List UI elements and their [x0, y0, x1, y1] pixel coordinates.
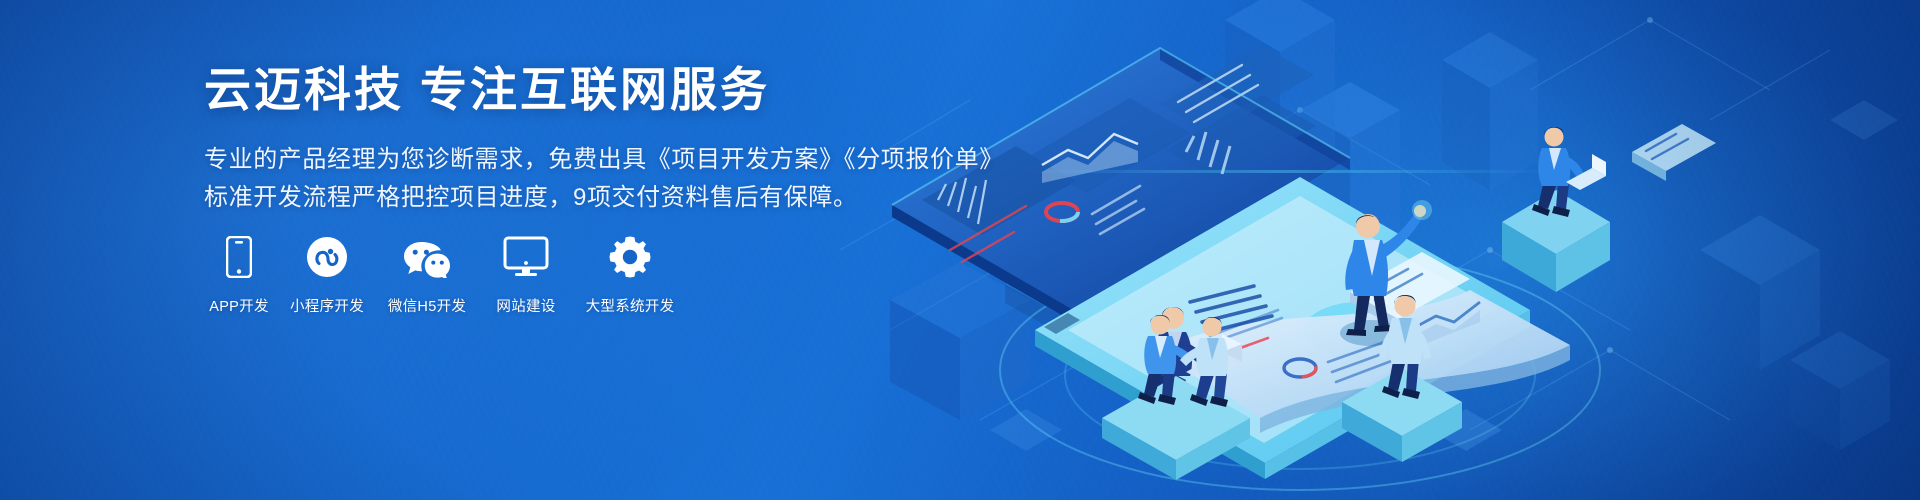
mini-program-icon	[306, 232, 348, 278]
service-label: APP开发	[209, 295, 269, 316]
service-item-wechat-h5[interactable]: 微信H5开发	[376, 232, 478, 316]
hero-copy-block: 云迈科技 专注互联网服务 专业的产品经理为您诊断需求，免费出具《项目开发方案》《…	[204, 64, 924, 217]
hero-banner: 云迈科技 专注互联网服务 专业的产品经理为您诊断需求，免费出具《项目开发方案》《…	[0, 0, 1920, 500]
monitor-icon	[503, 232, 549, 278]
subtitle-line-2: 标准开发流程严格把控项目进度，9项交付资料售后有保障。	[204, 179, 924, 217]
service-item-mini-program[interactable]: 小程序开发	[278, 232, 376, 316]
gear-icon	[609, 232, 651, 278]
service-label: 大型系统开发	[586, 295, 675, 316]
wechat-icon	[403, 232, 451, 278]
page-title: 云迈科技 专注互联网服务	[204, 64, 924, 117]
service-item-app[interactable]: APP开发	[200, 232, 278, 316]
service-label: 微信H5开发	[388, 295, 466, 316]
subtitle-line-1: 专业的产品经理为您诊断需求，免费出具《项目开发方案》《分项报价单》	[204, 141, 924, 179]
smartphone-icon	[226, 232, 252, 278]
service-item-large-system[interactable]: 大型系统开发	[574, 232, 686, 316]
hero-subtitle: 专业的产品经理为您诊断需求，免费出具《项目开发方案》《分项报价单》 标准开发流程…	[204, 141, 924, 218]
service-item-website[interactable]: 网站建设	[478, 232, 574, 316]
service-label: 网站建设	[496, 295, 555, 316]
service-list: APP开发 小程序开发	[200, 232, 686, 316]
service-label: 小程序开发	[290, 295, 364, 316]
